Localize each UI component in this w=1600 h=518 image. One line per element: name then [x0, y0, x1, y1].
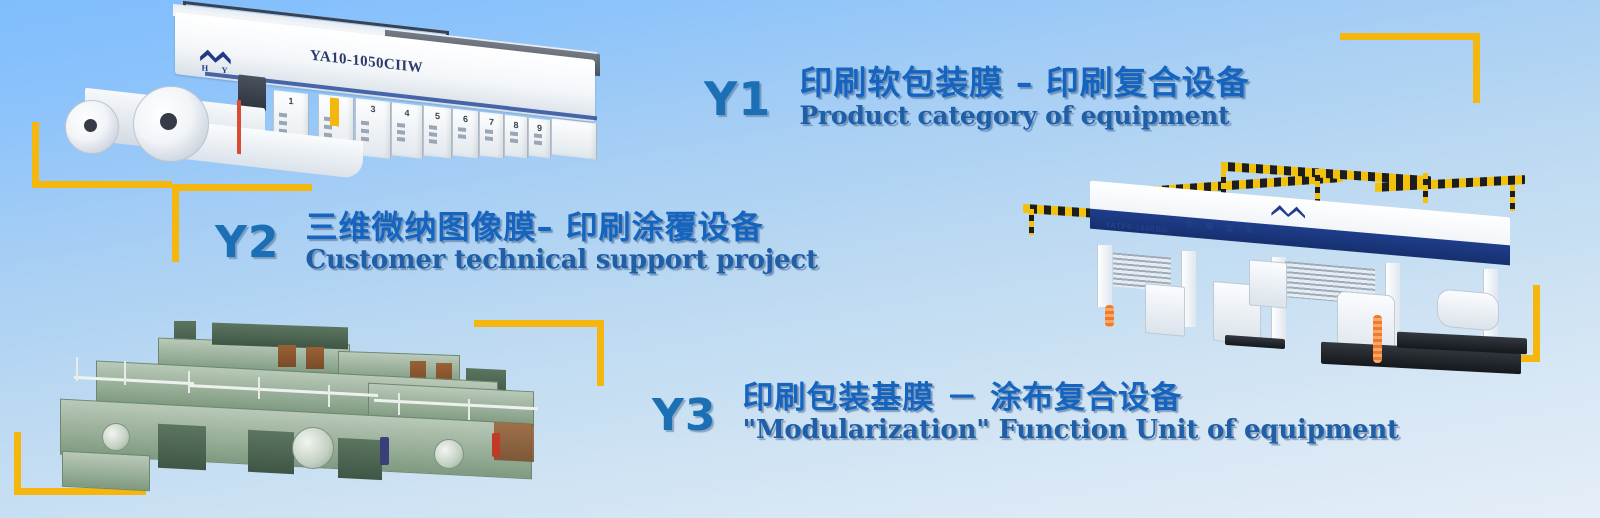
- machine-paper-coating-line: [38, 315, 568, 480]
- walkway-post: [188, 371, 190, 393]
- entry-y1-english: Product category of equipment: [799, 103, 1249, 129]
- press-unit-number: 5: [424, 109, 451, 122]
- press-unit-number: 4: [392, 106, 422, 119]
- bracket-y3-left-vertical: [14, 432, 21, 494]
- safety-rail-post: [1029, 209, 1034, 235]
- entry-y3: Y3 印刷包装基膜 － 涂布复合设备 "Modularization" Func…: [652, 382, 1399, 444]
- press-unit-number: 9: [529, 122, 550, 134]
- coating-line-frame: [338, 438, 382, 480]
- safety-rail-post: [1510, 185, 1515, 211]
- entry-y2-chinese: 三维微纳图像膜– 印刷涂覆设备: [305, 211, 817, 245]
- bracket-y1-left-horizontal: [32, 181, 172, 188]
- entry-y2-text: 三维微纳图像膜– 印刷涂覆设备 Customer technical suppo…: [305, 211, 817, 274]
- laminator-column: [1097, 245, 1112, 307]
- entry-y3-text: 印刷包装基膜 － 涂布复合设备 "Modularization" Functio…: [742, 382, 1398, 444]
- walkway-post: [258, 377, 260, 399]
- entry-y2: Y2 三维微纳图像膜– 印刷涂覆设备 Customer technical su…: [215, 211, 818, 274]
- coating-line-foot: [62, 451, 150, 492]
- entry-y2-label: Y2: [215, 221, 279, 265]
- entry-y3-chinese: 印刷包装基膜 － 涂布复合设备: [742, 382, 1398, 415]
- bracket-y2-left-vertical: [172, 184, 179, 262]
- entry-y1: Y1 印刷软包装膜 – 印刷复合设备 Product category of e…: [704, 66, 1250, 129]
- walkway-post: [468, 399, 470, 421]
- entry-y1-label: Y1: [704, 76, 771, 122]
- press-unit-end: [551, 118, 597, 159]
- press-unit-number: 6: [453, 113, 478, 126]
- press-unit: 7: [479, 112, 504, 159]
- dryer-drum: [306, 347, 324, 369]
- press-unwind-hub-large: [160, 113, 177, 130]
- press-unit-number: 1: [274, 94, 308, 108]
- machine-coating-laminator: YATF6-1650BII 华 南 宝 安: [985, 165, 1545, 360]
- bracket-y1-right-horizontal: [1340, 33, 1480, 40]
- entry-y2-english: Customer technical support project: [305, 247, 817, 274]
- bracket-y3-top-vertical: [597, 320, 604, 386]
- bracket-y2-left-horizontal: [172, 184, 312, 191]
- dryer-drum: [278, 345, 296, 367]
- press-unit: 8: [504, 115, 528, 159]
- bracket-y1-right-vertical: [1473, 33, 1480, 103]
- operator-figure: [492, 433, 500, 457]
- press-unit-number: 3: [356, 102, 390, 116]
- press-unit-number: 8: [505, 119, 527, 132]
- press-unit-number: 7: [480, 116, 503, 129]
- entry-y3-label: Y3: [652, 394, 716, 438]
- laminator-cabinet: [1145, 283, 1185, 336]
- walkway-post: [328, 385, 330, 407]
- press-red-web-guide: [237, 100, 241, 154]
- coating-roller: [292, 427, 334, 469]
- laminator-end-roller: [1437, 288, 1499, 331]
- entry-y1-chinese: 印刷软包装膜 – 印刷复合设备: [799, 66, 1249, 101]
- walkway-post: [398, 393, 400, 415]
- entry-y1-text: 印刷软包装膜 – 印刷复合设备 Product category of equi…: [799, 66, 1249, 129]
- coating-line-frame: [158, 424, 206, 471]
- safety-rail-post: [1315, 169, 1320, 201]
- press-unit: 4: [391, 102, 423, 159]
- safety-rail-post: [1423, 173, 1428, 203]
- operator-figure: [380, 437, 389, 465]
- hy-logo-icon: H Y: [197, 45, 243, 76]
- walkway-post: [124, 361, 126, 385]
- entry-y3-english: "Modularization" Function Unit of equipm…: [742, 417, 1398, 444]
- press-unwind-hub-small: [84, 119, 97, 132]
- press-unit: 9: [528, 118, 551, 159]
- coating-roller: [102, 423, 130, 451]
- coating-roller: [434, 439, 464, 469]
- walkway-post: [76, 357, 78, 381]
- press-unit: 6: [452, 108, 479, 158]
- laminator-cabinet: [1249, 259, 1287, 308]
- bracket-y1-left-vertical: [32, 122, 39, 188]
- machine-printing-press: H Y YA10-1050CIIW 1 2 3 4 5 6: [55, 8, 600, 173]
- laminator-cable-bundle: [1105, 305, 1114, 327]
- hy-logo-icon: [1270, 201, 1312, 223]
- coating-line-frame: [248, 430, 294, 474]
- laminator-cable-bundle: [1373, 315, 1382, 363]
- press-yellow-marker: [330, 97, 339, 126]
- press-unit: 5: [423, 105, 452, 158]
- product-category-banner: H Y YA10-1050CIIW 1 2 3 4 5 6: [0, 0, 1600, 518]
- coating-line-side-panel: [494, 422, 534, 462]
